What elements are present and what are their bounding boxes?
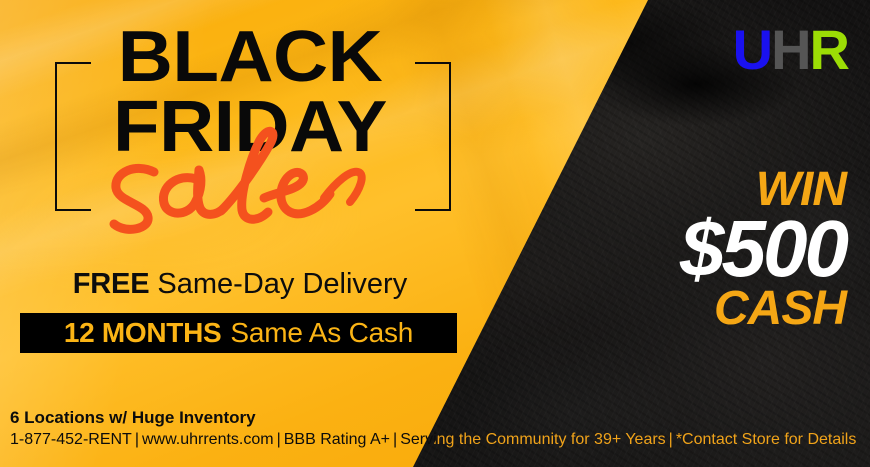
headline-black: BLACK [0, 24, 515, 92]
headline-friday: FRIDAY [0, 94, 515, 162]
website-url[interactable]: www.uhrrents.com [142, 431, 274, 448]
headline-group: BLACK FRIDAY [0, 24, 500, 161]
phone-number[interactable]: 1-877-452-RENT [10, 431, 132, 448]
cash-amount: $500 [680, 209, 846, 289]
uhr-logo[interactable]: UHR [733, 22, 848, 78]
free-delivery-offer: FREE Same-Day Delivery [0, 268, 480, 301]
locations-headline: 6 Locations w/ Huge Inventory [10, 408, 256, 428]
separator-4-dark: | [666, 431, 676, 448]
disclaimer-text-dark: *Contact Store for Details [676, 431, 857, 448]
same-as-cash-offer-bar: 12 MONTHS Same As Cash [20, 313, 457, 353]
same-as-cash-label: Same As Cash [230, 317, 413, 349]
left-content-panel: BLACK FRIDAY FREE Same-D [0, 0, 500, 400]
separator-1: | [132, 431, 142, 448]
same-day-delivery-label: Same-Day Delivery [157, 268, 407, 300]
bbb-rating: BBB Rating A+ [284, 431, 390, 448]
win-cash-promo: WIN $500 CASH [680, 166, 846, 333]
twelve-months-label: 12 MONTHS [64, 317, 222, 349]
logo-letter-r: R [810, 18, 848, 81]
black-friday-promo-banner: BLACK FRIDAY FREE Same-D [0, 0, 870, 467]
serving-community-dark: Serving the Community for 39+ Years [400, 431, 665, 448]
free-label: FREE [73, 268, 150, 300]
logo-letter-h: H [771, 18, 809, 81]
separator-2: | [274, 431, 284, 448]
footer-bar: 6 Locations w/ Huge Inventory 1-877-452-… [0, 400, 870, 467]
separator-3: | [390, 431, 400, 448]
logo-letter-u: U [733, 18, 771, 81]
